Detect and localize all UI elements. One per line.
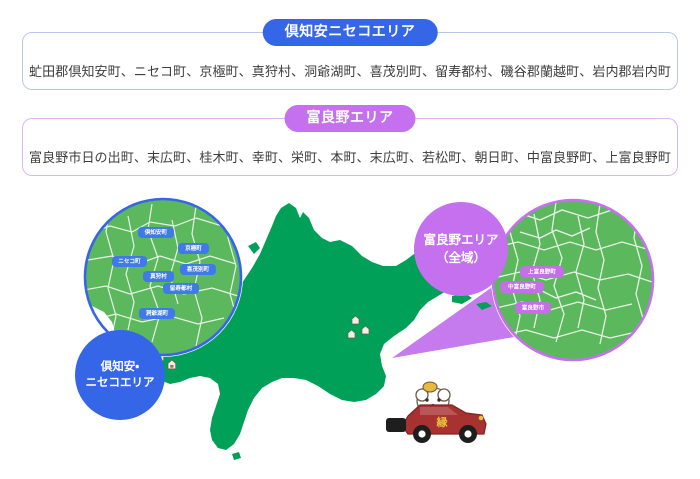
inset-label-kutchan: 倶知安町 bbox=[138, 227, 174, 238]
badge-furano[interactable]: 富良野エリア （全域） bbox=[414, 202, 508, 296]
badge-line-1: 倶知安・ bbox=[100, 359, 139, 373]
inset-label-furano-city: 富良野市 bbox=[515, 302, 551, 314]
dog-in-car-illustration: 縁 bbox=[386, 382, 486, 443]
badge-line-2: ニセコエリア bbox=[86, 376, 155, 389]
inset-label-text: 喜茂別町 bbox=[187, 265, 210, 273]
infographic-stage: 倶知安ニセコエリア 虻田郡倶知安町、ニセコ町、京極町、真狩村、洞爺湖町、喜茂別町… bbox=[0, 0, 700, 479]
inset-label-kyogoku: 京極町 bbox=[178, 243, 209, 254]
panel-body-kutchan-niseko: 虻田郡倶知安町、ニセコ町、京極町、真狩村、洞爺湖町、喜茂別町、留寿都村、磯谷郡蘭… bbox=[23, 61, 677, 80]
legend-panel-furano: 富良野エリア 富良野市日の出町、末広町、桂木町、幸町、栄町、本町、末広町、若松町… bbox=[22, 118, 678, 176]
inset-label-text: 倶知安町 bbox=[144, 228, 168, 236]
badge-kutchan-niseko[interactable]: 倶知安・ ニセコエリア bbox=[75, 330, 165, 420]
inset-label-text: 上富良野町 bbox=[528, 268, 556, 276]
car-icon: 縁 bbox=[386, 405, 486, 443]
inset-label-rusutsu: 留寿都村 bbox=[163, 283, 199, 294]
inset-circle-kutchan-niseko[interactable]: 倶知安町 京極町 ニセコ町 喜茂別町 真狩村 bbox=[66, 197, 243, 420]
inset-label-makkari: 真狩村 bbox=[143, 271, 174, 282]
inset-label-niseko: ニセコ町 bbox=[112, 256, 147, 267]
panel-title-kutchan-niseko: 倶知安ニセコエリア bbox=[263, 19, 438, 46]
panel-title-furano: 富良野エリア bbox=[285, 105, 416, 132]
inset-label-text: 京極町 bbox=[185, 244, 202, 252]
inset-label-toyako: 洞爺湖町 bbox=[139, 308, 175, 319]
map-illustration: 倶知安町 京極町 ニセコ町 喜茂別町 真狩村 bbox=[0, 186, 700, 479]
inset-label-text: 真狩村 bbox=[150, 272, 167, 280]
inset-label-kamifurano: 上富良野町 bbox=[520, 266, 564, 278]
panel-body-furano: 富良野市日の出町、末広町、桂木町、幸町、栄町、本町、末広町、若松町、朝日町、中富… bbox=[23, 147, 677, 166]
inset-label-text: ニセコ町 bbox=[118, 257, 141, 265]
car-door-text: 縁 bbox=[436, 415, 449, 429]
inset-label-kimobetsu: 喜茂別町 bbox=[180, 264, 216, 275]
legend-panel-kutchan-niseko: 倶知安ニセコエリア 虻田郡倶知安町、ニセコ町、京極町、真狩村、洞爺湖町、喜茂別町… bbox=[22, 32, 678, 90]
inset-label-text: 洞爺湖町 bbox=[146, 309, 169, 317]
badge-line-1: 富良野エリア bbox=[423, 232, 498, 247]
inset-label-text: 中富良野町 bbox=[508, 283, 536, 291]
inset-label-text: 留寿都村 bbox=[170, 284, 193, 292]
badge-line-2: （全域） bbox=[436, 250, 486, 265]
inset-label-text: 富良野市 bbox=[522, 304, 545, 312]
inset-label-nakafurano: 中富良野町 bbox=[500, 281, 544, 293]
